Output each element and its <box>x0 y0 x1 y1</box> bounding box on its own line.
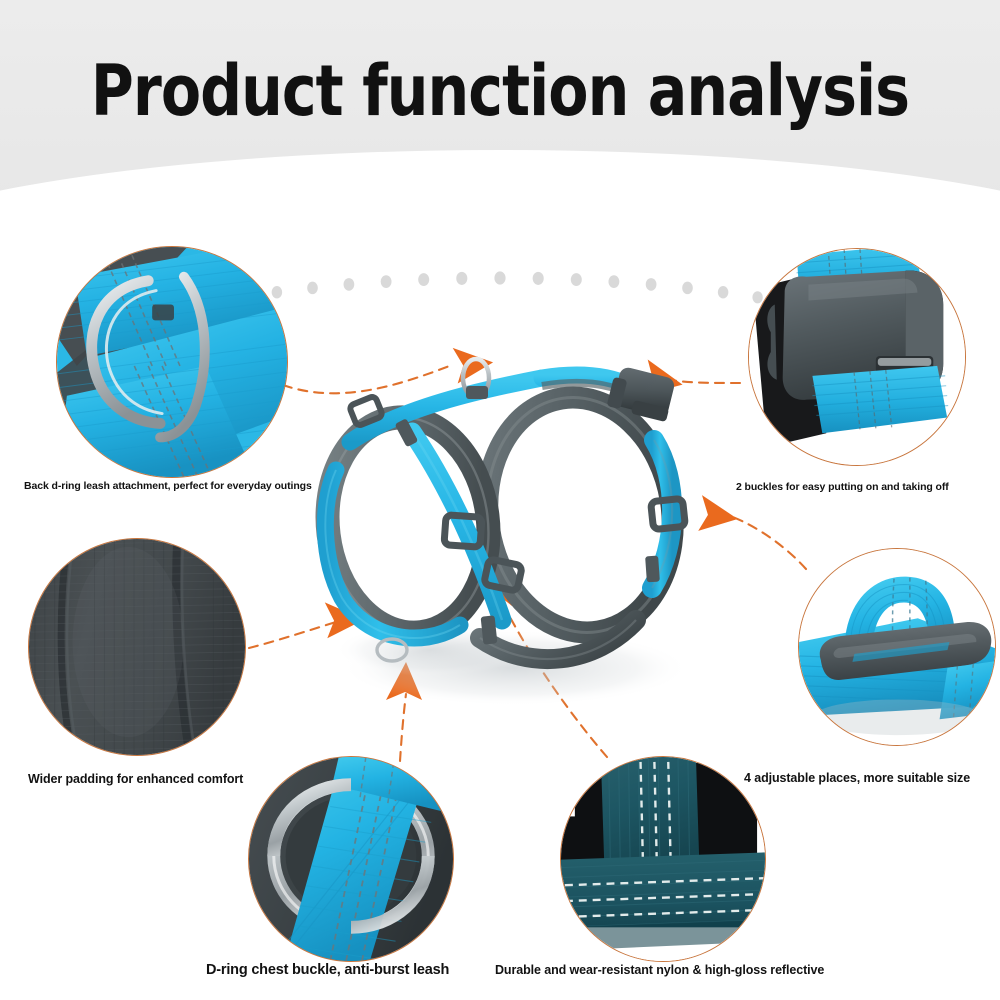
caption-durable-nylon: Durable and wear-resistant nylon & high-… <box>495 963 824 977</box>
nylon-detail-art <box>561 757 765 961</box>
caption-two-buckles: 2 buckles for easy putting on and taking… <box>736 481 949 493</box>
side-release-buckle-detail <box>748 248 966 466</box>
caption-back-d-ring: Back d-ring leash attachment, perfect fo… <box>24 480 312 492</box>
chest-d-ring-detail <box>248 756 454 962</box>
caption-adjustable-places: 4 adjustable places, more suitable size <box>744 771 970 785</box>
page-title: Product function analysis <box>35 48 965 134</box>
padding-detail <box>28 538 246 756</box>
adjuster-slider-detail <box>798 548 996 746</box>
caption-wider-padding: Wider padding for enhanced comfort <box>28 772 243 786</box>
back-d-ring-detail-art <box>57 247 287 477</box>
nylon-reflective-detail <box>560 756 766 962</box>
harness-illustration <box>280 320 720 720</box>
buckle-detail-art <box>749 249 965 465</box>
d-ring-keeper <box>466 386 488 399</box>
back-d-ring-detail <box>56 246 288 478</box>
chest-d-ring-detail-art <box>249 757 453 961</box>
infographic-canvas: Product function analysis <box>0 0 1000 1000</box>
caption-chest-d-ring: D-ring chest buckle, anti-burst leash <box>206 962 449 978</box>
adjuster-detail-art <box>799 549 995 745</box>
product-image <box>280 320 720 720</box>
padding-detail-art <box>29 539 245 755</box>
